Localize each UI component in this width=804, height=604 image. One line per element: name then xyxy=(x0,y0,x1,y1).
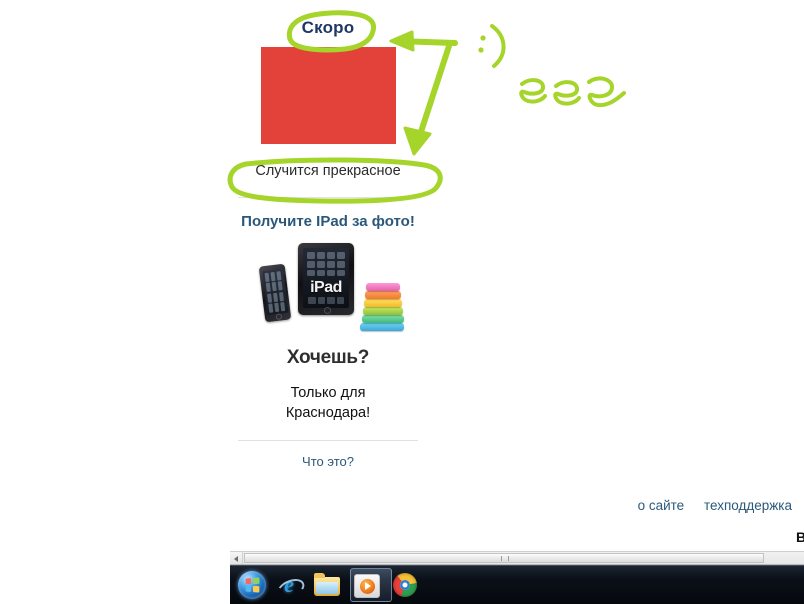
annotation-smiley-eye-bottom xyxy=(478,47,483,52)
promo-note: Только для Краснодара! xyxy=(238,384,418,423)
divider-top xyxy=(238,197,418,198)
scrollbar-thumb[interactable] xyxy=(244,553,764,563)
footer-link-support[interactable]: техподдержка xyxy=(704,498,792,513)
iphone-app-grid xyxy=(264,271,286,313)
horizontal-scrollbar[interactable] xyxy=(230,551,804,565)
windows-taskbar: e xyxy=(230,565,804,604)
ipad-dock xyxy=(308,297,344,304)
footer-links: о сайте техподдержка xyxy=(622,498,792,513)
promo-soon-badge: Скоро xyxy=(238,19,418,36)
annotation-smiley-mouth xyxy=(492,26,504,66)
iphone-home-button-icon xyxy=(276,314,283,321)
google-chrome-icon[interactable] xyxy=(391,571,419,599)
annotation-letter-e3 xyxy=(589,78,624,105)
footer-link-about[interactable]: о сайте xyxy=(638,498,685,513)
iphone-icon xyxy=(259,264,292,323)
promo-content-column: Скоро Случится прекрасное Получите IPad … xyxy=(238,0,418,471)
windows-explorer-folder-icon[interactable] xyxy=(313,571,341,599)
page-viewport: Скоро Случится прекрасное Получите IPad … xyxy=(0,0,804,548)
media-player-body-icon xyxy=(354,574,380,598)
ipad-home-button-icon xyxy=(324,307,331,314)
annotation-letter-e2 xyxy=(555,82,579,104)
promo-note-line-1: Только для xyxy=(238,384,418,404)
annotation-arrow-down xyxy=(418,46,449,141)
ipad-screen: iPad xyxy=(303,248,349,308)
media-player-play-icon xyxy=(360,579,375,594)
promo-banner-image xyxy=(261,47,396,144)
promo-headline: Получите IPad за фото! xyxy=(238,212,418,232)
windows-flag-icon xyxy=(246,577,260,592)
annotation-letter-e1 xyxy=(521,80,545,102)
promo-artwork-image: iPad xyxy=(248,243,408,351)
what-is-this-link[interactable]: Что это? xyxy=(302,454,354,469)
ipad-app-grid xyxy=(307,252,345,276)
folder-icon xyxy=(314,577,340,596)
clipped-footer-text: В xyxy=(796,529,804,545)
windows-media-player-icon[interactable] xyxy=(352,571,380,599)
divider-bottom xyxy=(238,440,418,441)
annotation-smiley-eye-top xyxy=(480,35,485,40)
iphone-screen xyxy=(262,269,288,315)
chrome-logo-icon xyxy=(393,573,417,597)
promo-tagline: Случится прекрасное xyxy=(238,163,418,180)
scroll-left-arrow-icon[interactable] xyxy=(230,552,243,564)
ipad-icon: iPad xyxy=(298,243,354,315)
ipad-wordmark: iPad xyxy=(303,279,349,297)
books-stack-icon xyxy=(360,279,406,331)
promo-note-line-2: Краснодара! xyxy=(238,404,418,424)
internet-explorer-icon[interactable]: e xyxy=(275,571,303,599)
start-orb-icon[interactable] xyxy=(238,571,266,599)
folder-inner-icon xyxy=(316,582,338,594)
